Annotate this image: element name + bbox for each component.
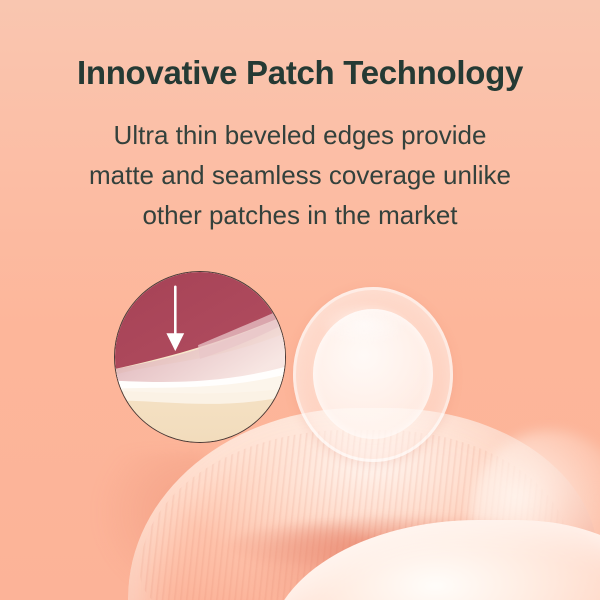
subtitle-line-1: Ultra thin beveled edges provide xyxy=(0,115,600,155)
page-title: Innovative Patch Technology xyxy=(0,54,600,92)
cross-section-diagram xyxy=(115,272,285,442)
subtitle-line-3: other patches in the market xyxy=(0,195,600,235)
subtitle: Ultra thin beveled edges provide matte a… xyxy=(0,115,600,235)
cross-section-inset xyxy=(114,271,286,443)
hydrocolloid-patch xyxy=(293,287,453,462)
promo-graphic: Innovative Patch Technology Ultra thin b… xyxy=(0,0,600,600)
subtitle-line-2: matte and seamless coverage unlike xyxy=(0,155,600,195)
patch-highlight xyxy=(321,303,407,345)
